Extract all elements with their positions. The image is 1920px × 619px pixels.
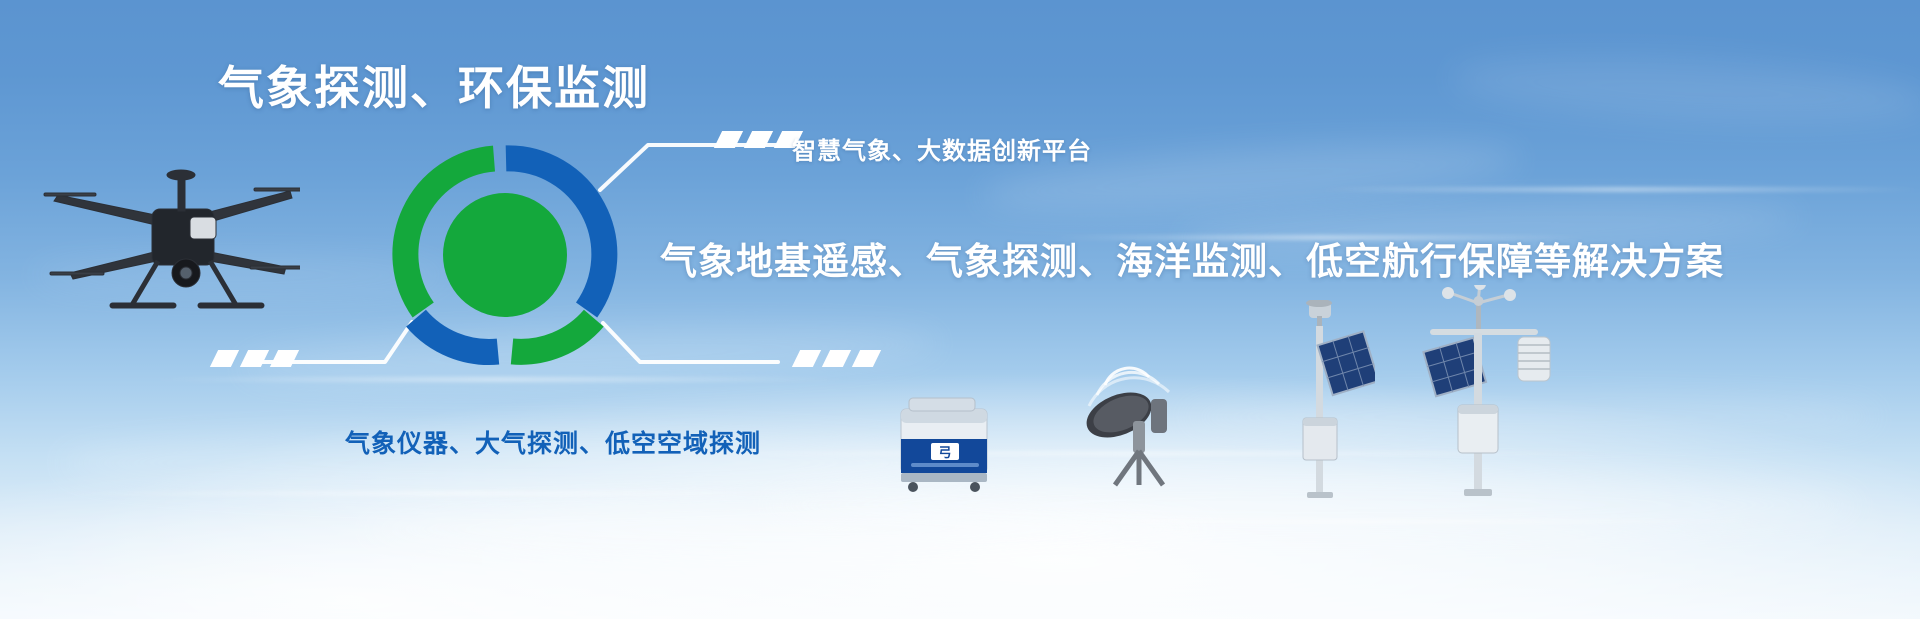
cirrus-streak: [900, 520, 1800, 523]
cirrus-streak: [40, 492, 860, 495]
ring-svg: [390, 140, 620, 370]
drone-icon: [40, 155, 300, 335]
dual-arc-ring-graphic: [390, 140, 620, 370]
green-core-circle: [443, 193, 567, 317]
drone: [40, 155, 300, 335]
cirrus-streak: [150, 378, 850, 381]
weather-station: [1410, 285, 1560, 500]
slash-marks-top: [718, 131, 799, 148]
svg-text:弓: 弓: [938, 445, 951, 460]
cloud-wisp: [1449, 47, 1920, 132]
monitoring-cabinet: 弓: [895, 395, 995, 493]
satellite-dish-icon: [1075, 355, 1185, 490]
callout-top-label: 智慧气象、大数据创新平台: [792, 131, 1092, 166]
solar-panel-station-icon: [1285, 300, 1375, 500]
blue-arc-bottom-left: [416, 318, 498, 352]
lidar-cabinet-icon: 弓: [895, 395, 995, 493]
slash-marks-bottom-left: [214, 350, 295, 367]
callout-bottom-label: 气象仪器、大气探测、低空空域探测: [345, 424, 761, 460]
connector-bottom-right: [603, 323, 778, 362]
dish-antenna: [1075, 355, 1185, 490]
page-title: 气象探测、环保监测: [218, 52, 650, 118]
cloud-wisp: [360, 500, 1220, 558]
connector-top: [600, 145, 778, 190]
solar-pole-station: [1285, 300, 1375, 500]
cirrus-streak: [1320, 188, 1920, 191]
slash-marks-bottom-right: [796, 350, 877, 367]
anemometer-station-icon: [1410, 285, 1560, 500]
main-solution-line: 气象地基遥感、气象探测、海洋监测、低空航行保障等解决方案: [660, 231, 1724, 285]
hero-banner: 气象探测、环保监测 智慧气象、大数据创新平台 气象地基遥感、气象探测、海洋监测、…: [0, 0, 1920, 619]
green-arc-bottom-right: [512, 318, 594, 352]
